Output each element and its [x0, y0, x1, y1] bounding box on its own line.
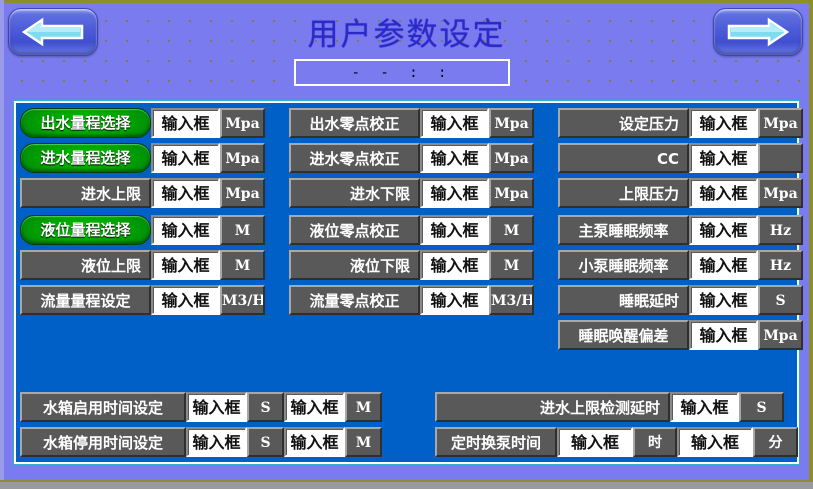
- param-row: 睡眠延时输入框S: [558, 285, 803, 315]
- param-label-button[interactable]: 进水上限: [20, 178, 151, 208]
- param-unit-label: Mpa: [220, 108, 265, 138]
- header-bar: 用户参数设定 - - : :: [0, 3, 813, 98]
- param-label-button[interactable]: 上限压力: [558, 178, 689, 208]
- param-input-field[interactable]: 输入框: [420, 108, 489, 138]
- parameter-panel: 出水量程选择输入框Mpa进水量程选择输入框Mpa进水上限输入框Mpa液位量程选择…: [14, 101, 799, 464]
- param-unit-label: M: [489, 215, 534, 245]
- frame-bottom-edge: [0, 482, 813, 489]
- param-row: CC输入框: [558, 143, 803, 173]
- param-input-field[interactable]: 输入框: [151, 215, 220, 245]
- param-row: 上限压力输入框Mpa: [558, 178, 803, 208]
- param-unit-label: M: [220, 215, 265, 245]
- param-input-field[interactable]: 输入框: [689, 178, 758, 208]
- param-input-field-secondary[interactable]: 输入框: [284, 427, 345, 457]
- param-input-field[interactable]: 输入框: [420, 143, 489, 173]
- param-label-button[interactable]: 进水上限检测延时: [435, 392, 670, 422]
- param-label-button[interactable]: 出水量程选择: [20, 108, 151, 138]
- param-row: 主泵睡眠频率输入框Hz: [558, 215, 803, 245]
- param-label-button[interactable]: 进水零点校正: [289, 143, 420, 173]
- param-row: 出水零点校正输入框Mpa: [289, 108, 534, 138]
- param-row: 设定压力输入框Mpa: [558, 108, 803, 138]
- param-label-button[interactable]: 定时换泵时间: [435, 427, 557, 457]
- param-unit-label-secondary: M: [345, 427, 382, 457]
- param-label-button[interactable]: 小泵睡眠频率: [558, 250, 689, 280]
- next-page-button[interactable]: [713, 8, 803, 56]
- param-row-wide: 进水上限检测延时输入框S: [435, 392, 784, 422]
- param-label-button[interactable]: CC: [558, 143, 689, 173]
- param-input-field-secondary[interactable]: 输入框: [284, 392, 345, 422]
- param-unit-label-secondary: 分: [753, 427, 798, 457]
- param-input-field[interactable]: 输入框: [420, 178, 489, 208]
- param-input-field[interactable]: 输入框: [420, 250, 489, 280]
- param-input-field[interactable]: 输入框: [151, 250, 220, 280]
- param-row: 进水下限输入框Mpa: [289, 178, 534, 208]
- param-row: 进水上限输入框Mpa: [20, 178, 265, 208]
- param-input-field[interactable]: 输入框: [689, 143, 758, 173]
- param-unit-label: M: [220, 250, 265, 280]
- param-unit-label: M3/H: [489, 285, 534, 315]
- param-unit-label-secondary: M: [345, 392, 382, 422]
- param-row: 液位量程选择输入框M: [20, 215, 265, 245]
- param-row-wide: 定时换泵时间输入框时输入框分: [435, 427, 798, 457]
- param-label-button[interactable]: 睡眠延时: [558, 285, 689, 315]
- right-arrow-icon: [727, 17, 789, 47]
- param-unit-label: Mpa: [489, 178, 534, 208]
- param-input-field[interactable]: 输入框: [670, 392, 739, 422]
- param-unit-label: Hz: [758, 215, 803, 245]
- param-unit-label: Mpa: [489, 143, 534, 173]
- param-row: 小泵睡眠频率输入框Hz: [558, 250, 803, 280]
- param-input-field[interactable]: 输入框: [689, 285, 758, 315]
- param-label-button[interactable]: 进水下限: [289, 178, 420, 208]
- param-label-button[interactable]: 设定压力: [558, 108, 689, 138]
- param-unit-label: [758, 143, 803, 173]
- param-input-field[interactable]: 输入框: [151, 285, 220, 315]
- param-unit-label: Mpa: [489, 108, 534, 138]
- param-label-button[interactable]: 液位下限: [289, 250, 420, 280]
- param-unit-label: Mpa: [758, 320, 803, 350]
- param-unit-label: Mpa: [758, 108, 803, 138]
- param-row: 流量零点校正输入框M3/H: [289, 285, 534, 315]
- param-unit-label: 时: [633, 427, 677, 457]
- param-row: 液位零点校正输入框M: [289, 215, 534, 245]
- param-row-dual: 水箱启用时间设定输入框S输入框M: [20, 392, 382, 422]
- param-input-field[interactable]: 输入框: [151, 108, 220, 138]
- param-label-button[interactable]: 流量零点校正: [289, 285, 420, 315]
- param-unit-label: M: [489, 250, 534, 280]
- param-unit-label: Mpa: [220, 143, 265, 173]
- param-unit-label: M3/H: [220, 285, 265, 315]
- param-row: 流量量程设定输入框M3/H: [20, 285, 265, 315]
- param-unit-label: S: [739, 392, 784, 422]
- param-row: 出水量程选择输入框Mpa: [20, 108, 265, 138]
- param-label-button[interactable]: 流量量程设定: [20, 285, 151, 315]
- param-label-button[interactable]: 主泵睡眠频率: [558, 215, 689, 245]
- param-label-button[interactable]: 进水量程选择: [20, 143, 151, 173]
- param-label-button[interactable]: 液位上限: [20, 250, 151, 280]
- param-input-field[interactable]: 输入框: [689, 320, 758, 350]
- param-unit-label: S: [247, 392, 284, 422]
- param-label-button[interactable]: 液位量程选择: [20, 215, 151, 245]
- param-unit-label: S: [247, 427, 284, 457]
- param-input-field[interactable]: 输入框: [557, 427, 633, 457]
- param-input-field[interactable]: 输入框: [689, 108, 758, 138]
- param-unit-label: S: [758, 285, 803, 315]
- param-row: 进水量程选择输入框Mpa: [20, 143, 265, 173]
- param-input-field[interactable]: 输入框: [151, 143, 220, 173]
- param-input-field[interactable]: 输入框: [689, 215, 758, 245]
- param-label-button[interactable]: 睡眠唤醒偏差: [558, 320, 689, 350]
- param-unit-label: Mpa: [758, 178, 803, 208]
- hmi-screen: 用户参数设定 - - : : 出水量程选择输入框Mpa进水量程选择输入框Mpa进…: [0, 0, 813, 489]
- param-unit-label: Mpa: [220, 178, 265, 208]
- param-row-dual: 水箱停用时间设定输入框S输入框M: [20, 427, 382, 457]
- param-input-field[interactable]: 输入框: [420, 285, 489, 315]
- page-title: 用户参数设定: [0, 9, 813, 54]
- param-label-button[interactable]: 水箱停用时间设定: [20, 427, 186, 457]
- param-input-field[interactable]: 输入框: [186, 392, 247, 422]
- param-row: 睡眠唤醒偏差输入框Mpa: [558, 320, 803, 350]
- param-label-button[interactable]: 出水零点校正: [289, 108, 420, 138]
- param-input-field[interactable]: 输入框: [689, 250, 758, 280]
- param-input-field[interactable]: 输入框: [151, 178, 220, 208]
- param-input-field[interactable]: 输入框: [186, 427, 247, 457]
- param-row: 液位上限输入框M: [20, 250, 265, 280]
- param-input-field[interactable]: 输入框: [420, 215, 489, 245]
- datetime-display[interactable]: - - : :: [294, 59, 510, 86]
- param-label-button[interactable]: 水箱启用时间设定: [20, 392, 186, 422]
- param-row: 液位下限输入框M: [289, 250, 534, 280]
- param-row: 进水零点校正输入框Mpa: [289, 143, 534, 173]
- param-input-field-secondary[interactable]: 输入框: [677, 427, 753, 457]
- param-unit-label: Hz: [758, 250, 803, 280]
- param-label-button[interactable]: 液位零点校正: [289, 215, 420, 245]
